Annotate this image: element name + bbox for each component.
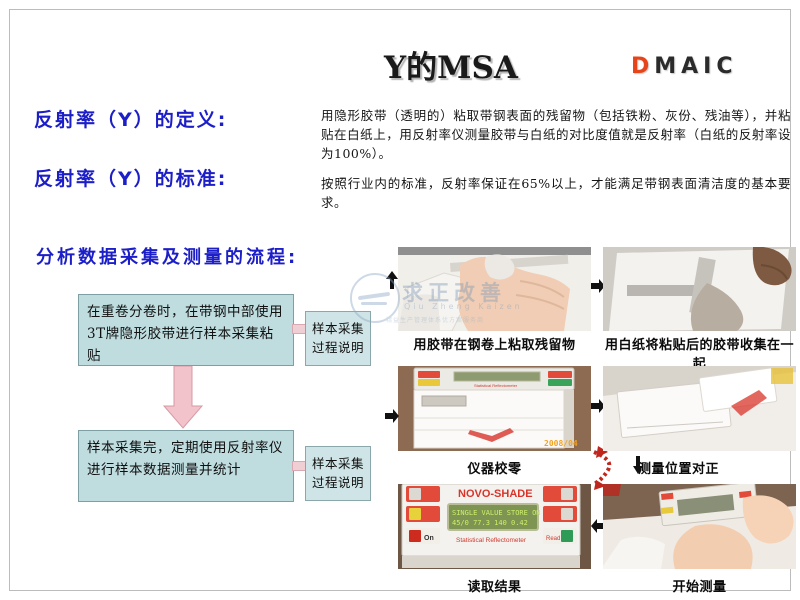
photo-instrument-zeroing: Statistical Reflectometer 2008/04 [398, 366, 591, 451]
flow-step-2-box: 样本采集完，定期使用反射率仪进行样本数据测量并统计 [78, 430, 294, 502]
photo-reading-result: NOVO-SHADE On Read SINGLE VALUE STORE ON… [398, 484, 591, 569]
svg-text:Statistical Reflectometer: Statistical Reflectometer [474, 383, 518, 388]
dmaic-remaining-letters: MAIC [654, 54, 737, 79]
page-title: Y的MSA [336, 42, 566, 87]
photo-position-alignment [603, 366, 796, 451]
photo-caption-3: 仪器校零 [398, 458, 591, 477]
svg-text:NOVO-SHADE: NOVO-SHADE [458, 488, 533, 500]
standard-heading: 反射率（Y）的标准: [34, 164, 227, 191]
dmaic-phase-indicator: DMAIC [631, 54, 738, 79]
slide-canvas: Y的MSA DMAIC 反射率（Y）的定义: 用隐形胶带（透明的）粘取带钢表面的… [0, 0, 800, 600]
photo-caption-5: 读取结果 [398, 576, 591, 595]
svg-text:Read: Read [546, 536, 560, 542]
definition-text: 用隐形胶带（透明的）粘取带钢表面的残留物（包括铁粉、灰份、残油等），并粘贴在白纸… [321, 106, 791, 163]
definition-heading: 反射率（Y）的定义: [34, 105, 227, 132]
photo-start-measuring [603, 484, 796, 569]
dmaic-define-letter: D [631, 54, 654, 79]
standard-text: 按照行业内的标准，反射率保证在65%以上，才能满足带钢表面清洁度的基本要求。 [321, 174, 791, 212]
flow-heading: 分析数据采集及测量的流程: [36, 243, 298, 269]
svg-text:SINGLE VALUE STORE ON: SINGLE VALUE STORE ON [452, 509, 541, 517]
flow-step-1-note: 样本采集过程说明 [305, 311, 371, 366]
svg-text:On: On [424, 535, 434, 542]
svg-text:2008/04: 2008/04 [544, 439, 578, 448]
arrow-down-icon-1 [632, 456, 644, 474]
photo-tape-collection [603, 247, 796, 331]
svg-text:Statistical Reflectometer: Statistical Reflectometer [456, 537, 527, 544]
photo-caption-1: 用胶带在钢卷上粘取残留物 [398, 334, 591, 353]
photo-tape-sampling [398, 247, 591, 331]
svg-text:45/0 77.3 140 0.42: 45/0 77.3 140 0.42 [452, 519, 528, 527]
flow-step-2-note: 样本采集过程说明 [305, 446, 371, 501]
arrow-right-icon-3 [385, 408, 399, 424]
photo-caption-6: 开始测量 [603, 576, 796, 595]
arrow-up-icon-1 [385, 271, 399, 289]
flow-step-1-box: 在重卷分卷时，在带钢中部使用3T牌隐形胶带进行样本采集粘贴 [78, 294, 294, 366]
flow-down-arrow-icon [161, 366, 205, 430]
